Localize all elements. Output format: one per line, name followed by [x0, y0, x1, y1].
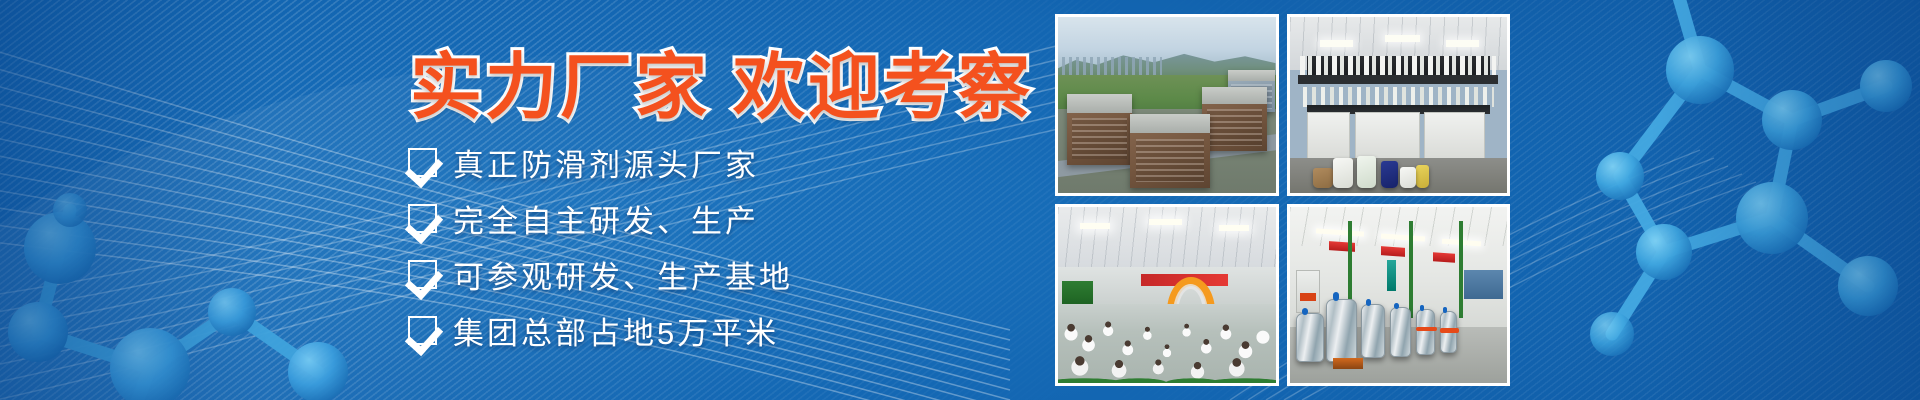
- checkbox-check-icon: [408, 316, 437, 345]
- page-title: 实力厂家 欢迎考察: [410, 28, 1033, 133]
- list-item: 真正防滑剂源头厂家: [408, 140, 793, 185]
- feature-list: 真正防滑剂源头厂家 完全自主研发、生产 可参观研发、生产基地 集团总部占地5万平…: [408, 140, 793, 353]
- photo-grid: [1055, 14, 1510, 386]
- list-item-label: 可参观研发、生产基地: [453, 252, 793, 297]
- aerial-campus-photo: [1055, 14, 1279, 196]
- list-item-label: 完全自主研发、生产: [453, 196, 759, 241]
- list-item: 可参观研发、生产基地: [408, 252, 793, 297]
- promo-banner: 实力厂家 欢迎考察 真正防滑剂源头厂家 完全自主研发、生产 可参观研发、生产基地…: [0, 0, 1920, 400]
- list-item-label: 真正防滑剂源头厂家: [453, 140, 759, 185]
- checkbox-check-icon: [408, 204, 437, 233]
- checkbox-check-icon: [408, 148, 437, 177]
- checkbox-check-icon: [408, 260, 437, 289]
- employee-assembly-photo: [1055, 204, 1279, 386]
- list-item-label: 集团总部占地5万平米: [453, 308, 779, 353]
- banner-content: 实力厂家 欢迎考察 真正防滑剂源头厂家 完全自主研发、生产 可参观研发、生产基地…: [0, 0, 1920, 400]
- list-item: 完全自主研发、生产: [408, 196, 793, 241]
- list-item: 集团总部占地5万平米: [408, 308, 793, 353]
- laboratory-photo: [1287, 14, 1511, 196]
- production-equipment-photo: [1287, 204, 1511, 386]
